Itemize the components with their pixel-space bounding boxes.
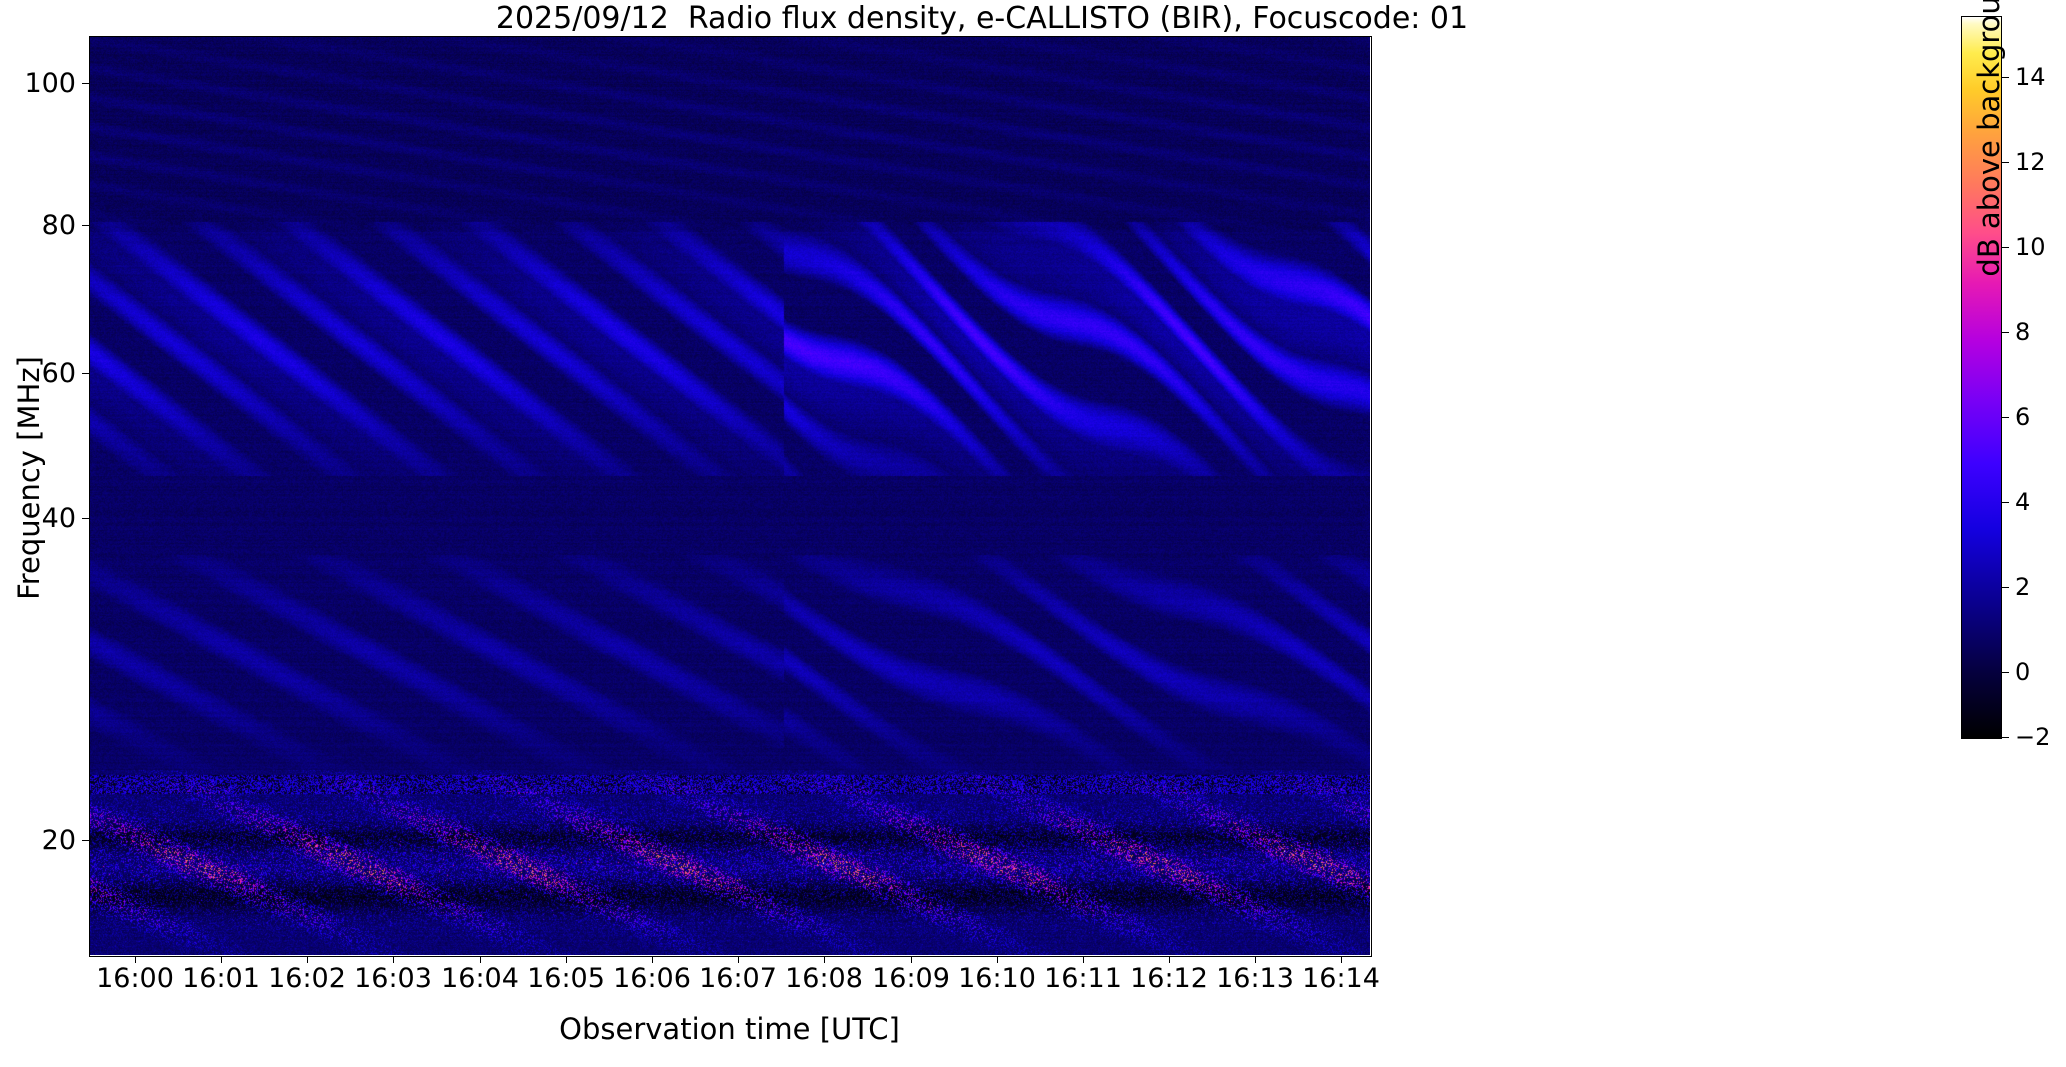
x-tick-mark <box>1255 956 1256 963</box>
spectrogram-image <box>89 36 1370 955</box>
colorbar-label: dB above background <box>1972 0 2006 378</box>
colorbar-tick-label: 4 <box>2015 490 2030 514</box>
x-tick-mark <box>1169 956 1170 963</box>
y-tick-mark <box>82 225 89 226</box>
x-tick-mark <box>911 956 912 963</box>
y-tick-mark <box>82 373 89 374</box>
x-tick-mark <box>652 956 653 963</box>
x-tick-mark <box>566 956 567 963</box>
colorbar-tick-label: 2 <box>2015 575 2030 599</box>
y-tick-label: 20 <box>6 827 76 854</box>
spectrogram-figure: 2025/09/12 Radio flux density, e-CALLIST… <box>0 0 2066 1067</box>
x-tick-mark <box>997 956 998 963</box>
x-tick-mark <box>1083 956 1084 963</box>
colorbar-tick-mark <box>2002 672 2009 673</box>
colorbar-tick-label: −2 <box>2015 725 2050 749</box>
spectrogram-axes[interactable] <box>89 36 1370 955</box>
colorbar-tick-label: 12 <box>2015 150 2046 174</box>
y-tick-mark <box>82 83 89 84</box>
x-tick-mark <box>221 956 222 963</box>
colorbar-tick-label: 10 <box>2015 235 2046 259</box>
x-tick-mark <box>824 956 825 963</box>
x-tick-mark <box>135 956 136 963</box>
colorbar-tick-label: 8 <box>2015 320 2030 344</box>
y-tick-label: 100 <box>6 70 76 97</box>
colorbar-tick-label: 14 <box>2015 65 2046 89</box>
colorbar-tick-label: 0 <box>2015 660 2030 684</box>
colorbar-tick-label: 6 <box>2015 405 2030 429</box>
x-tick-mark <box>480 956 481 963</box>
colorbar-tick-mark <box>2002 737 2009 738</box>
colorbar-tick-mark <box>2002 502 2009 503</box>
y-tick-label: 80 <box>6 212 76 239</box>
y-tick-mark <box>82 840 89 841</box>
colorbar-tick-mark <box>2002 417 2009 418</box>
page-title: 2025/09/12 Radio flux density, e-CALLIST… <box>118 2 1846 36</box>
colorbar-tick-mark <box>2002 587 2009 588</box>
x-axis-label: Observation time [UTC] <box>89 1012 1370 1046</box>
y-axis-label: Frequency [MHz] <box>12 268 46 688</box>
x-tick-label: 16:14 <box>1261 964 1421 994</box>
x-tick-mark <box>393 956 394 963</box>
y-tick-mark <box>82 518 89 519</box>
x-tick-mark <box>738 956 739 963</box>
x-tick-mark <box>1341 956 1342 963</box>
x-tick-mark <box>307 956 308 963</box>
